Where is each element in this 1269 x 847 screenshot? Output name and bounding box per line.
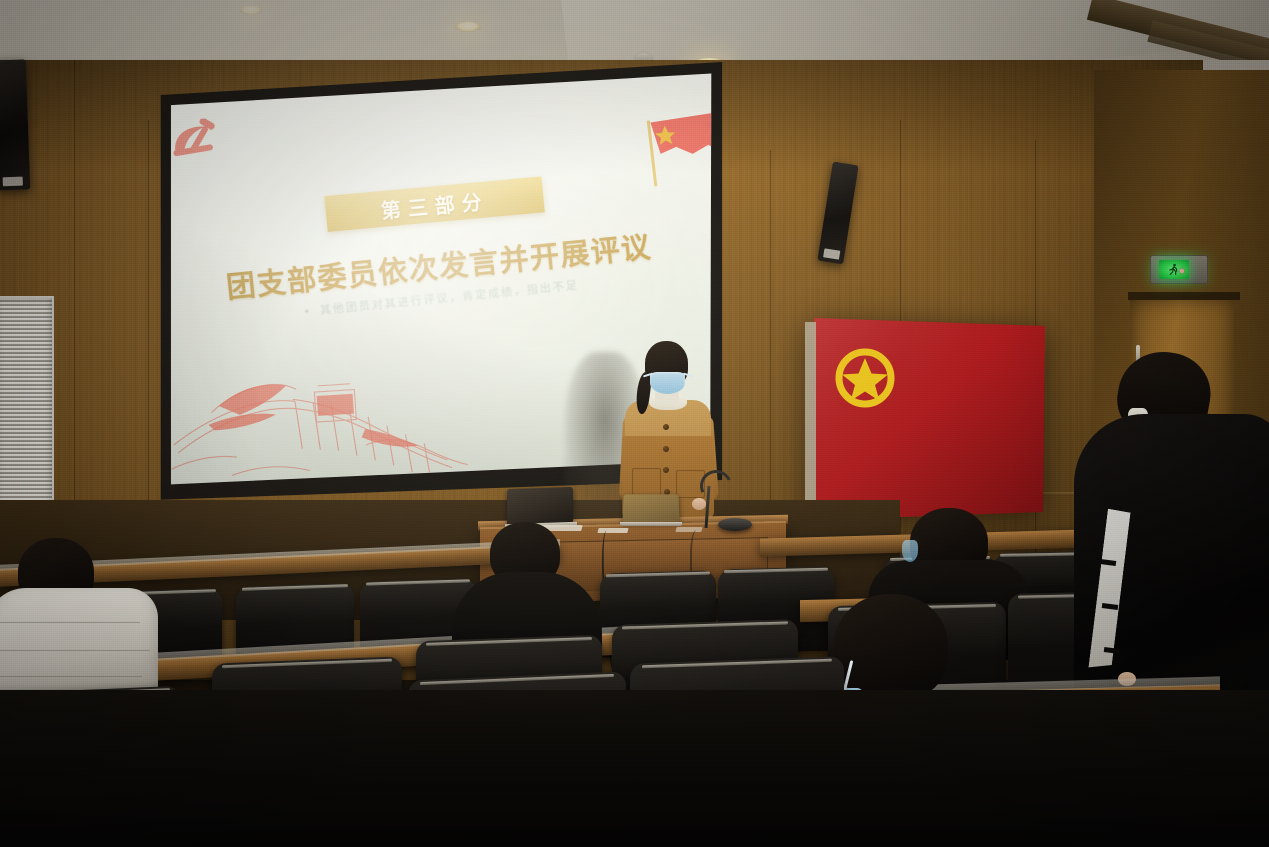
audience-front-left-puffer-jacket — [0, 588, 158, 698]
presenter-hand-right — [692, 498, 706, 510]
speaker-left-label — [3, 177, 24, 187]
presenter-cardigan-button-1 — [663, 424, 669, 430]
seat-r4-c3-trim — [366, 579, 470, 585]
wall-speaker-left — [0, 59, 30, 190]
communist-youth-league-flag — [800, 312, 1055, 527]
laptop-left-screen — [507, 487, 573, 525]
audience-center-front-head — [834, 594, 948, 700]
foreground-floor — [0, 690, 1269, 847]
lecture-hall-photo: 第三部分 团支部委员依次发言并开展评议 •其他团员对其进行评议，肯定成绩，指出不… — [0, 0, 1269, 847]
speaker-right-label — [823, 248, 840, 259]
audience-front-left-puffer-seam-3 — [0, 676, 142, 677]
exit-sign-panel — [1159, 260, 1189, 279]
audience-front-left-puffer-seam-1 — [0, 622, 140, 623]
laptop-center-base — [620, 522, 682, 526]
slide-subtitle-bullet: • — [303, 305, 313, 319]
presenter-cardigan-pocket-left — [632, 468, 661, 496]
presenter-cardigan-button-3 — [663, 467, 669, 473]
presenter-cardigan-button-2 — [663, 446, 669, 452]
cpc-hammer-sickle-icon — [165, 117, 224, 166]
laptop-center-screen — [622, 494, 679, 522]
audience-front-left-puffer-seam-2 — [0, 650, 150, 651]
slide-section-banner-label: 第三部分 — [379, 185, 489, 224]
door-frame-header — [1128, 292, 1240, 300]
slide-section-banner: 第三部分 — [324, 176, 545, 232]
audience-right-face-mask — [902, 540, 918, 562]
seat-r4-c4-trim — [606, 572, 710, 578]
presenter-face-mask — [650, 372, 685, 394]
seat-r4-c5-trim — [724, 568, 828, 574]
emergency-exit-sign — [1150, 255, 1208, 284]
microphone-base — [718, 518, 752, 531]
ceiling-downlight-5 — [240, 6, 262, 15]
exit-sign-indicator-led — [1180, 269, 1184, 273]
ceiling-downlight-4 — [455, 22, 481, 32]
slide-red-flag-icon — [628, 110, 723, 189]
running-person-icon — [1167, 263, 1180, 276]
